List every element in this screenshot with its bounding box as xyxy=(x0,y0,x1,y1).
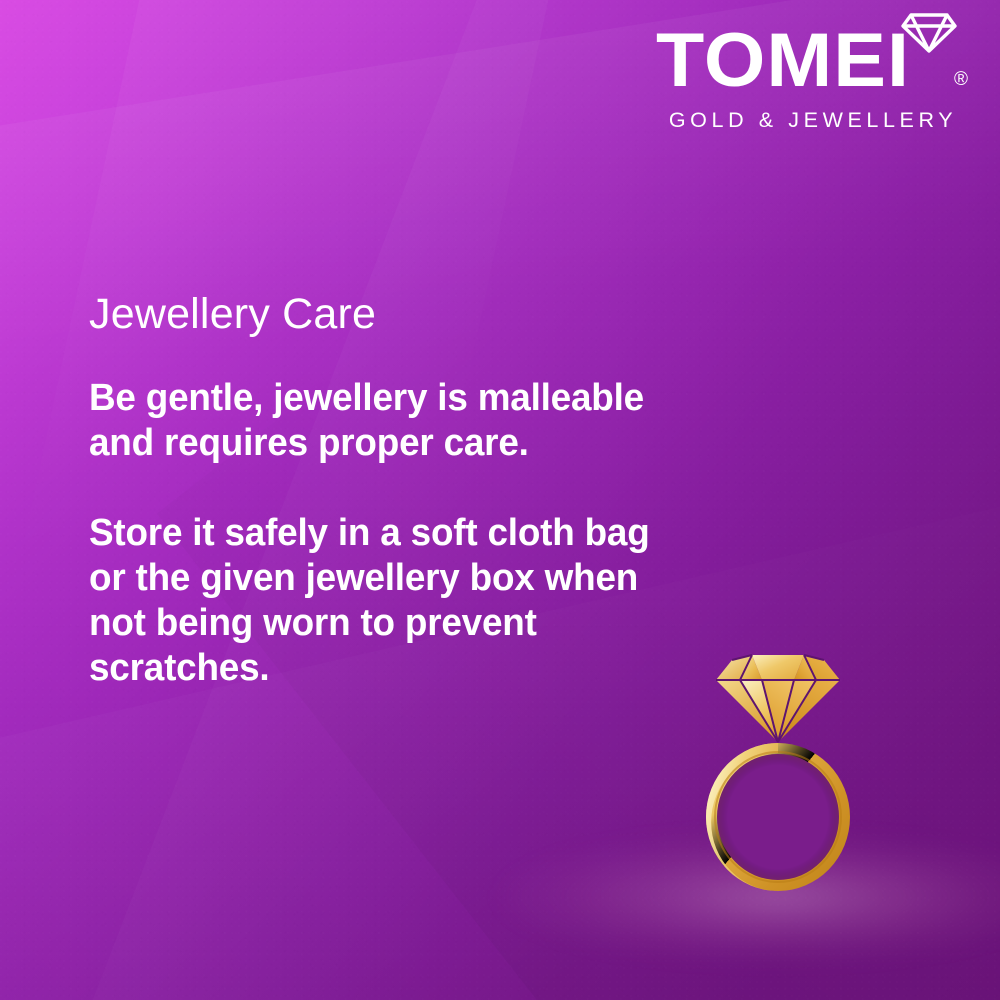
ring-vector xyxy=(688,636,868,906)
care-copy-block: Jewellery Care Be gentle, jewellery is m… xyxy=(89,288,689,691)
ring-band-icon xyxy=(706,743,850,891)
gold-diamond-ring-illustration xyxy=(688,636,868,906)
gem-icon xyxy=(716,655,840,742)
diamond-outline-icon xyxy=(901,12,957,59)
tomei-logo: TOMEI ® GOLD & JEWELLERY xyxy=(656,12,976,82)
registered-trademark-symbol: ® xyxy=(954,70,968,89)
page-title: Jewellery Care xyxy=(89,288,689,340)
care-paragraph-2: Store it safely in a soft cloth bag or t… xyxy=(89,511,671,691)
jewellery-care-poster: TOMEI ® GOLD & JEWELLERY Jewellery Care … xyxy=(0,0,1000,1000)
logo-wordmark-row: TOMEI ® xyxy=(656,12,976,82)
care-paragraph-1: Be gentle, jewellery is malleable and re… xyxy=(89,376,671,466)
brand-tagline: GOLD & JEWELLERY xyxy=(658,108,968,132)
